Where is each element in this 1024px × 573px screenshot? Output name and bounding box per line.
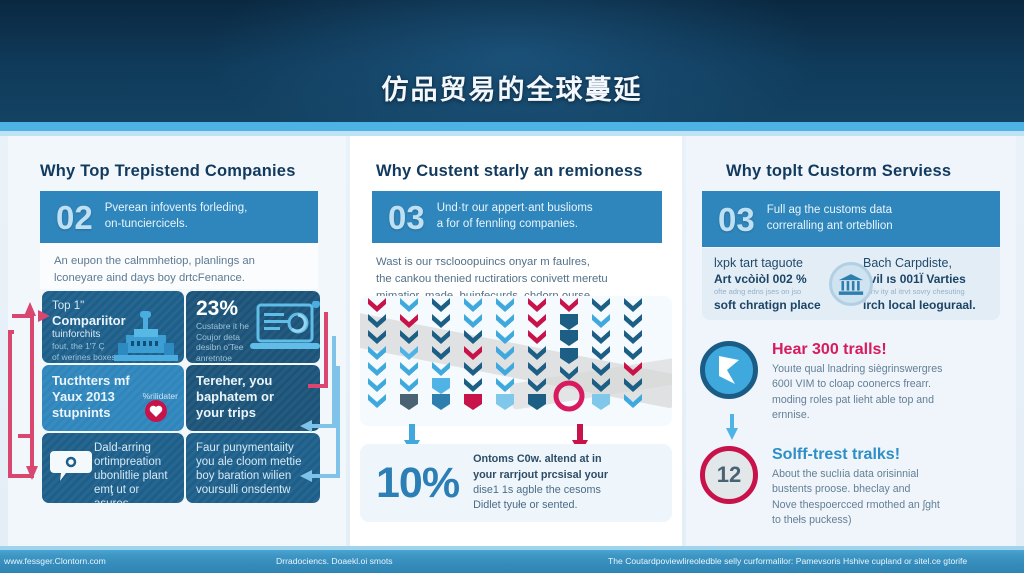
left-column-title: Why Top Trepistend Companies (40, 162, 328, 181)
footer-middle: Drradociencs. Doaekl.oi smots (276, 556, 393, 566)
card-percent-value: 23% (196, 297, 238, 321)
page-footer: www.fessger.Clontorn.com Drradociencs. D… (0, 546, 1024, 573)
number-12-badge-icon: 12 (700, 446, 758, 504)
bank-building-icon (829, 262, 873, 306)
page-header: 仿品贸易的全球蔓延 (0, 0, 1024, 122)
content-stage: Why Top Trepistend Companies 02 Pverean … (0, 136, 1024, 546)
footer-website[interactable]: www.fessger.Clontorn.com (4, 556, 106, 566)
speech-bubble-icon (50, 449, 92, 483)
column-right: Why toplt Custorm Serviess 03 Full ag th… (686, 136, 1016, 546)
item-hear-trails-body: Youıte quаl lnadring siègrinswergres 600… (772, 362, 942, 423)
left-banner-number: 02 (56, 201, 93, 234)
item-self-trest-text: Solff-trest tralks! About the suclıia da… (772, 446, 940, 528)
badge-number: 12 (717, 462, 741, 488)
card-optimisation-text: Dald-arring ortimpreation ubonlitlie pla… (94, 441, 176, 503)
item-self-trest[interactable]: 12 Solff-trest tralks! About the suclıia… (700, 446, 1000, 528)
left-banner-text: Pverean infovents forleding, on-tuncierc… (105, 201, 248, 233)
item-hear-trails-text: Hear 300 tralls! Youıte quаl lnadring si… (772, 341, 942, 423)
middle-banner-text: Und·tr our appert·ant busliomѕ a for of … (437, 201, 593, 233)
laptop-icon (248, 301, 320, 355)
footer-top-rule (0, 546, 1024, 550)
chevron-field (360, 296, 672, 426)
item-self-trest-body: About the suclıia data orisinnial busten… (772, 467, 940, 528)
middle-note-text: Wast is our тѕсlooopuincs onyar m faulre… (362, 244, 670, 298)
card-complementary-text: Faur punymentaiity you ale cloom mettie … (196, 441, 312, 497)
middle-column-title: Why Custent starly an remioness (376, 162, 664, 181)
right-banner-number: 03 (718, 203, 755, 236)
item-hear-trails[interactable]: Hear 300 tralls! Youıte quаl lnadring si… (700, 341, 1000, 423)
arrow-down-connector-icon (726, 414, 738, 440)
page-title: 仿品贸易的全球蔓延 (0, 68, 1024, 107)
card-complementary[interactable]: Faur punymentaiity you ale cloom mettie … (186, 433, 320, 503)
footer-disclaimer: The Coutardpoviewlireoledble selly curfo… (608, 556, 967, 566)
item-hear-trails-heading: Hear 300 tralls! (772, 341, 942, 359)
middle-number-banner: 03 Und·tr our appert·ant busliomѕ a for … (372, 191, 662, 243)
callout-text: Ontoms C0w. altend at in your rarrjout p… (473, 452, 608, 513)
map-pin-flag-icon (700, 341, 758, 399)
card-trips-text: Tereher, you baphatem or your trips (196, 373, 312, 421)
left-card-grid: Top 1" Compariitor tuinforchits fout, th… (42, 291, 320, 506)
right-split-right: Bach Carpdiste, evil ıs 001Ï Varties yor… (851, 255, 1000, 314)
right-banner-text: Full ag the customs data correralling an… (767, 203, 893, 235)
middle-callout: 10% Ontoms C0w. altend at in your rarrjo… (360, 444, 672, 522)
middle-banner-number: 03 (388, 201, 425, 234)
card-percent[interactable]: 23% Custabre it he Coujor deta desibn o'… (186, 291, 320, 363)
bank-glyph (838, 273, 864, 296)
right-column-title: Why toplt Custorm Serviess (726, 162, 998, 181)
city-skyline-icon (114, 311, 178, 361)
column-left: Why Top Trepistend Companies 02 Pverean … (8, 136, 346, 546)
item-self-trest-heading: Solff-trest tralks! (772, 446, 940, 464)
column-middle: Why Custent starly an remioness 03 Und·t… (350, 136, 682, 546)
right-number-banner: 03 Full ag the customs data correralling… (702, 191, 1000, 247)
left-note-card: An eupon the calmmhetiop, planlings an l… (40, 243, 318, 289)
card-trips[interactable]: Tereher, you baphatem or your trips (186, 365, 320, 431)
header-accent-bar (0, 122, 1024, 131)
card-shipments[interactable]: Tucthters mf Yaux 2013 stupnints %rilida… (42, 365, 184, 431)
left-number-banner: 02 Pverean infovents forleding, on-tunci… (40, 191, 318, 243)
chevron-grid-icon (360, 296, 672, 426)
card-optimisation[interactable]: Dald-arring ortimpreation ubonlitlie pla… (42, 433, 184, 503)
right-split-panel: lхpk tart taguote Art vcòiòl 002 % ofte … (702, 248, 1000, 320)
heart-badge-icon (144, 399, 168, 423)
card-top-competitor[interactable]: Top 1" Compariitor tuinforchits fout, th… (42, 291, 184, 363)
callout-number: 10% (376, 462, 459, 505)
